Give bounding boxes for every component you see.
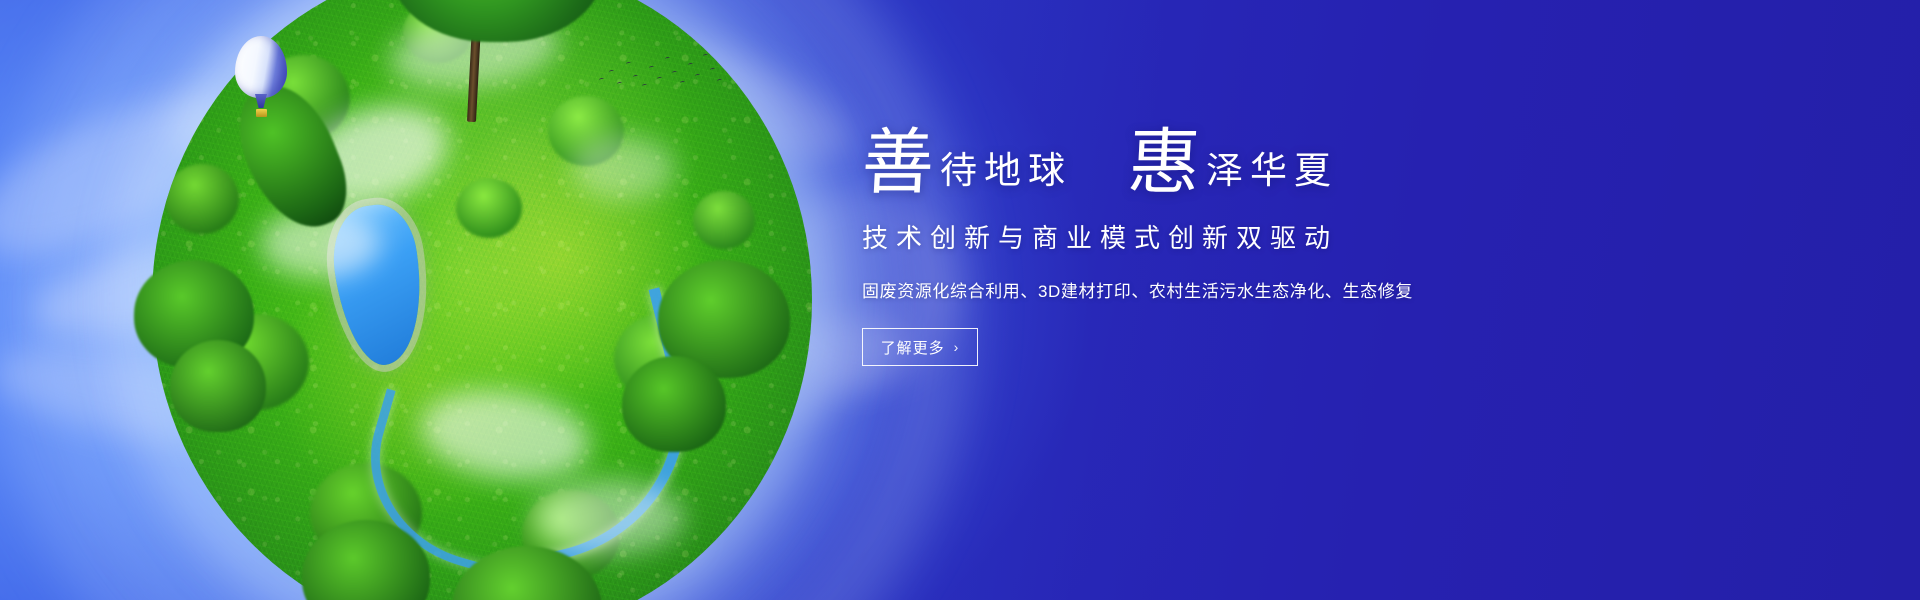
chevron-right-icon: › <box>954 340 960 354</box>
banner-content: 善 待地球 惠 泽华夏 技术创新与商业模式创新双驱动 固废资源化综合利用、3D建… <box>862 130 1682 366</box>
rim-tree <box>170 340 266 432</box>
headline-group-2: 惠 泽华夏 <box>1128 130 1338 196</box>
headline-big-char-1: 善 <box>860 130 941 196</box>
forest-blob <box>165 164 239 234</box>
balloon-neck <box>255 94 267 108</box>
rim-tree <box>622 356 726 452</box>
balloon-basket <box>256 109 267 117</box>
learn-more-button[interactable]: 了解更多 › <box>862 328 978 366</box>
hot-air-balloon-icon <box>235 36 287 122</box>
forest-blob <box>693 191 755 249</box>
forest-blob <box>456 178 522 238</box>
banner-description: 固废资源化综合利用、3D建材打印、农村生活污水生态净化、生态修复 <box>862 277 1682 302</box>
learn-more-label: 了解更多 <box>881 337 945 358</box>
bird-flock-icon <box>595 48 725 94</box>
planet-mist <box>534 480 684 554</box>
headline-small-text-1: 待地球 <box>940 153 1072 196</box>
headline-small-text-2: 泽华夏 <box>1206 153 1338 196</box>
planet-mist <box>572 136 676 200</box>
headline-big-char-2: 惠 <box>1126 130 1207 196</box>
hero-banner: 善 待地球 惠 泽华夏 技术创新与商业模式创新双驱动 固废资源化综合利用、3D建… <box>0 0 1920 600</box>
headline-group-1: 善 待地球 <box>862 130 1072 196</box>
balloon-envelope <box>235 36 287 98</box>
banner-subtitle: 技术创新与商业模式创新双驱动 <box>862 218 1682 255</box>
headline: 善 待地球 惠 泽华夏 <box>862 130 1682 196</box>
